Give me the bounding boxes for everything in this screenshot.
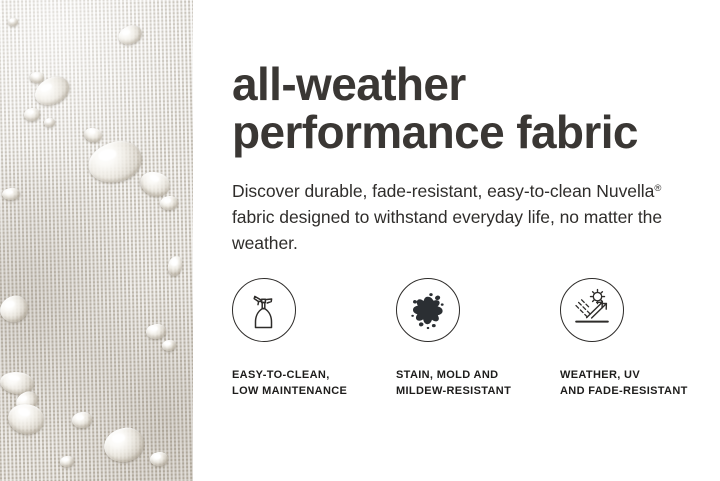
water-droplet bbox=[150, 452, 168, 466]
feature-item-uv-resistant: WEATHER, UV AND FADE-RESISTANT bbox=[560, 278, 702, 399]
water-droplet bbox=[24, 108, 40, 121]
headline-line-1: all-weather bbox=[232, 58, 466, 110]
water-droplet bbox=[160, 196, 178, 210]
content-column: all-weatherperformance fabric Discover d… bbox=[232, 0, 702, 481]
water-droplet bbox=[2, 188, 20, 200]
fabric-photo bbox=[0, 0, 193, 481]
water-droplet bbox=[60, 456, 74, 467]
feature-label: STAIN, MOLD AND MILDEW-RESISTANT bbox=[396, 368, 560, 399]
water-droplet bbox=[146, 324, 166, 339]
headline-line-2: performance fabric bbox=[232, 106, 638, 158]
stain-splat-icon bbox=[396, 278, 460, 342]
subcopy-part-2: fabric designed to withstand everyday li… bbox=[232, 207, 662, 253]
page-title: all-weatherperformance fabric bbox=[232, 60, 702, 156]
feature-label: EASY-TO-CLEAN, LOW MAINTENANCE bbox=[232, 368, 396, 399]
subcopy-text: Discover durable, fade-resistant, easy-t… bbox=[232, 176, 682, 256]
water-droplet bbox=[162, 340, 176, 351]
subcopy-part-1: Discover durable, fade-resistant, easy-t… bbox=[232, 181, 654, 201]
sun-uv-fade-icon bbox=[560, 278, 624, 342]
feature-item-easy-to-clean: EASY-TO-CLEAN, LOW MAINTENANCE bbox=[232, 278, 396, 399]
water-droplet bbox=[44, 118, 55, 127]
promo-banner: all-weatherperformance fabric Discover d… bbox=[0, 0, 720, 481]
feature-item-stain-resistant: STAIN, MOLD AND MILDEW-RESISTANT bbox=[396, 278, 560, 399]
registered-trademark-symbol: ® bbox=[654, 183, 661, 194]
feature-label: WEATHER, UV AND FADE-RESISTANT bbox=[560, 368, 702, 399]
water-droplet bbox=[8, 18, 18, 26]
water-droplet bbox=[72, 412, 92, 428]
feature-list: EASY-TO-CLEAN, LOW MAINTENANCE bbox=[232, 278, 702, 399]
spray-bottle-icon bbox=[232, 278, 296, 342]
